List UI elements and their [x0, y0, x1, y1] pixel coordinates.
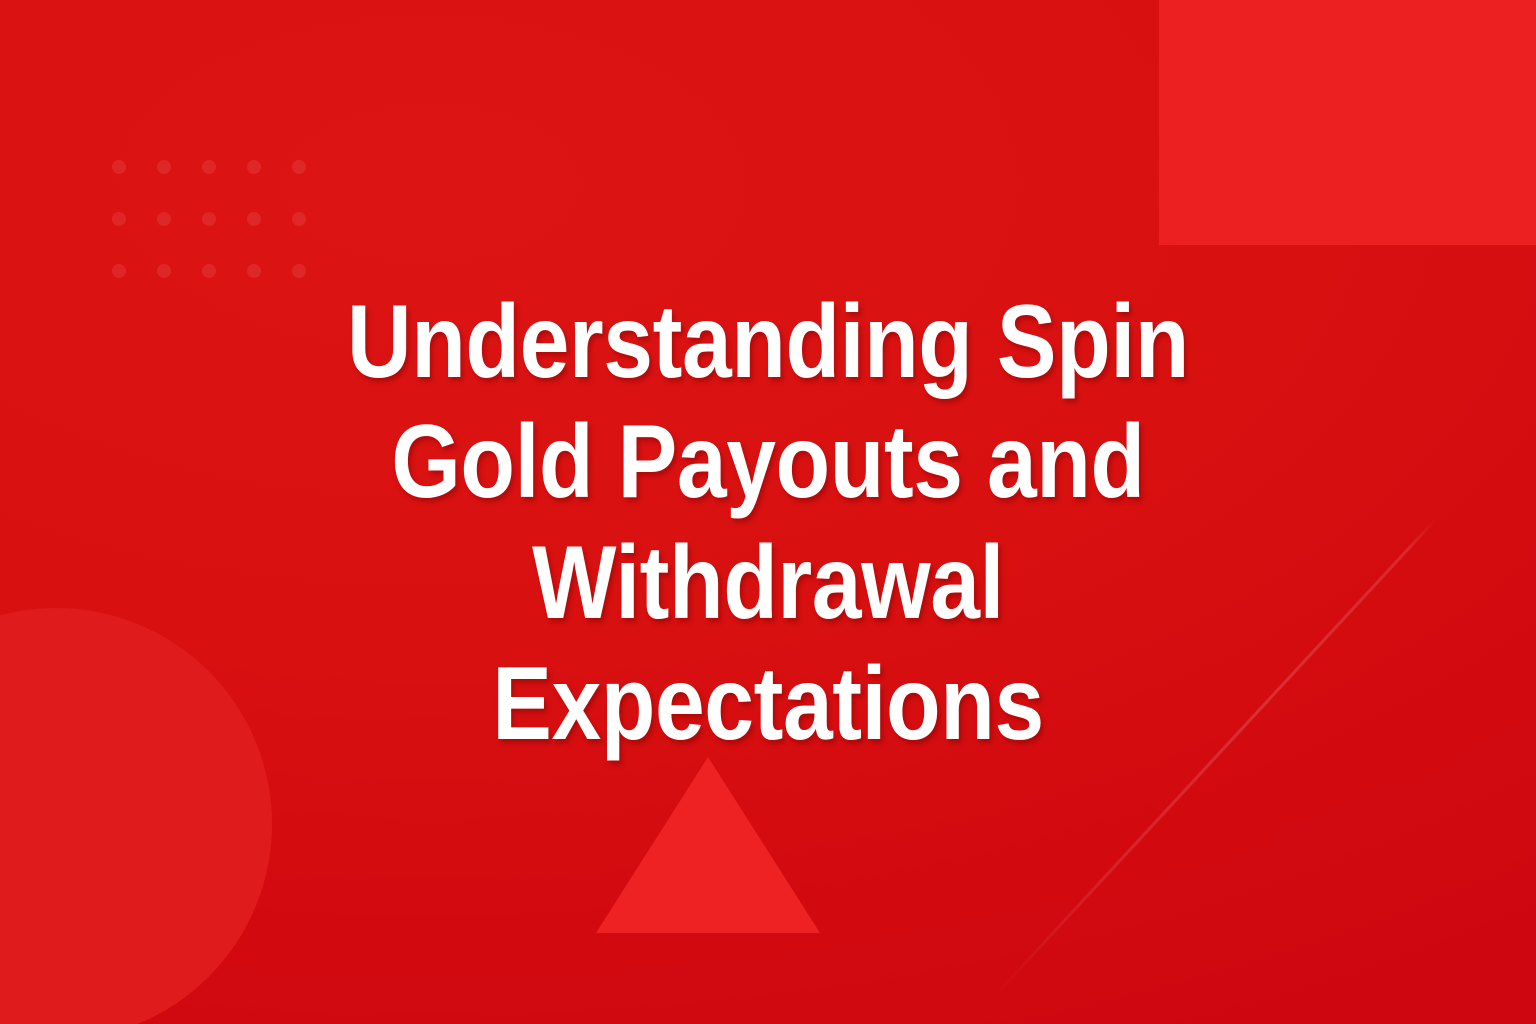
title-slide: Understanding Spin Gold Payouts and With…	[0, 0, 1536, 1024]
slide-title: Understanding Spin Gold Payouts and With…	[252, 282, 1284, 765]
title-container: Understanding Spin Gold Payouts and With…	[0, 0, 1536, 1024]
